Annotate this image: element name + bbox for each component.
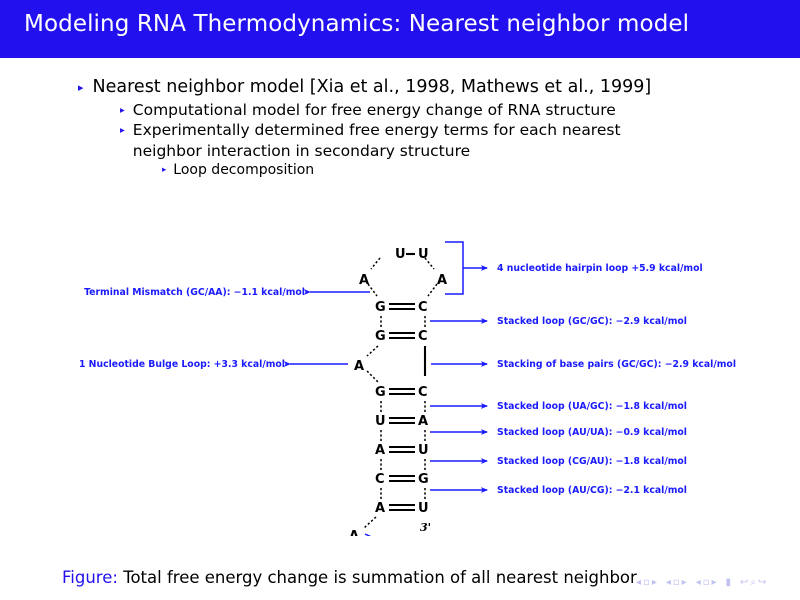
stem-pair-2: G C (375, 329, 428, 344)
nucleotide-tail-a1: A (349, 529, 359, 536)
slide-root: Modeling RNA Thermodynamics: Nearest nei… (0, 0, 800, 600)
page-title: Modeling RNA Thermodynamics: Nearest nei… (24, 11, 689, 37)
stem-pair-6: C G (375, 472, 429, 487)
stem-pair-5: A U (375, 443, 429, 458)
nucleotide-pair3-right: C (418, 385, 428, 400)
bullet-text-level1: Nearest neighbor model [Xia et al., 1998… (93, 76, 652, 99)
nucleotide-pair7-right: U (418, 501, 429, 516)
dangling-tail: A A 5' (297, 517, 376, 536)
nav-subsection-marker-icon[interactable]: ▫ (673, 578, 680, 588)
bullet-item-level3-loop: ▸ Loop decomposition (162, 161, 778, 179)
annotation-stacked-cg-au: Stacked loop (CG/AU): −1.8 kcal/mol (497, 456, 687, 467)
bullet-item-level1: ▸ Nearest neighbor model [Xia et al., 19… (78, 76, 778, 99)
bullet-text-level2-b: Experimentally determined free energy te… (133, 120, 678, 160)
annotation-terminal-mismatch: Terminal Mismatch (GC/AA): −1.1 kcal/mol (84, 287, 305, 298)
stem-pair-7: A U (375, 501, 429, 516)
nucleotide-pair5-left: A (375, 443, 385, 458)
nucleotide-pair6-left: C (375, 472, 385, 487)
beamer-navigation-bar[interactable]: ◂ ▫ ▸ ◂ ▫ ▸ ◂ ▫ ▸ ▮ ↩ ⌕ ↪ (636, 578, 766, 588)
hairpin-loop-backbone (368, 258, 437, 296)
figure-caption-label: Figure: (62, 568, 118, 587)
bullet-triangle-icon: ▸ (120, 106, 125, 116)
nucleotide-loop-a-left: A (359, 273, 369, 288)
bullet-item-level2-experimental: ▸ Experimentally determined free energy … (120, 120, 778, 160)
bullet-text-level2-a: Computational model for free energy chan… (133, 100, 616, 120)
nucleotide-pair1-right: C (418, 300, 428, 315)
nav-forward-icon[interactable]: ↪ (758, 578, 766, 588)
nucleotide-bulge-a: A (354, 359, 364, 374)
nucleotide-pair2-right: C (418, 329, 428, 344)
nav-search-icon[interactable]: ⌕ (750, 578, 756, 588)
stem-pair-3: G C (375, 385, 428, 400)
annotation-stacked-au-ua: Stacked loop (AU/UA): −0.9 kcal/mol (497, 427, 687, 438)
nucleotide-loop-a-right: A (437, 273, 447, 288)
annotation-stacked-gc-gc: Stacked loop (GC/GC): −2.9 kcal/mol (497, 316, 687, 327)
nucleotide-pair3-left: G (375, 385, 386, 400)
leader-dangling-nucleotide (365, 534, 452, 536)
bulge-loop-region: A (354, 346, 425, 382)
nav-prev-section-icon[interactable]: ◂ (696, 578, 701, 588)
nav-group-slide[interactable]: ◂ ▫ ▸ (636, 578, 657, 588)
nucleotide-pair4-right: A (418, 414, 428, 429)
nav-next-slide-icon[interactable]: ▸ (652, 578, 657, 588)
figure-caption-text: Total free energy change is summation of… (123, 568, 637, 587)
nav-next-section-icon[interactable]: ▸ (712, 578, 717, 588)
bullet-text-level3: Loop decomposition (173, 161, 314, 179)
three-prime-label: 3' (420, 521, 431, 534)
annotation-stacked-ua-gc: Stacked loop (UA/GC): −1.8 kcal/mol (497, 401, 687, 412)
nav-group-subsection[interactable]: ◂ ▫ ▸ (666, 578, 687, 588)
nav-slide-marker-icon[interactable]: ▫ (643, 578, 650, 588)
bullet-triangle-icon: ▸ (120, 126, 125, 136)
nav-prev-slide-icon[interactable]: ◂ (636, 578, 641, 588)
annotation-stacked-au-cg: Stacked loop (AU/CG): −2.1 kcal/mol (497, 485, 687, 496)
nav-section-marker-icon[interactable]: ▫ (703, 578, 710, 588)
nav-document-icon[interactable]: ▮ (726, 578, 732, 588)
nav-next-subsection-icon[interactable]: ▸ (682, 578, 687, 588)
nucleotide-pair7-left: A (375, 501, 385, 516)
stem-pair-1: G C (375, 300, 428, 315)
nucleotide-pair4-left: U (375, 414, 386, 429)
annotation-bulge-loop: 1 Nucleotide Bulge Loop: +3.3 kcal/mol (79, 359, 285, 370)
nucleotide-loop-u2: U (418, 247, 429, 262)
nav-group-section[interactable]: ◂ ▫ ▸ (696, 578, 717, 588)
annotation-hairpin-loop: 4 nucleotide hairpin loop +5.9 kcal/mol (497, 263, 703, 274)
bullet-triangle-icon: ▸ (78, 82, 84, 93)
annotation-stacking-base-pairs: Stacking of base pairs (GC/GC): −2.9 kca… (497, 359, 736, 370)
nucleotide-loop-u1: U (395, 247, 406, 262)
nav-prev-subsection-icon[interactable]: ◂ (666, 578, 671, 588)
hairpin-loop-nucleotides: U U A A (359, 247, 447, 288)
bullet-item-level2-computational: ▸ Computational model for free energy ch… (120, 100, 778, 120)
nucleotide-pair6-right: G (418, 472, 429, 487)
nav-group-tools[interactable]: ↩ ⌕ ↪ (740, 578, 766, 588)
bullet-list: ▸ Nearest neighbor model [Xia et al., 19… (78, 76, 778, 179)
bullet-triangle-icon: ▸ (162, 166, 166, 175)
nucleotide-pair1-left: G (375, 300, 386, 315)
slide-title-bar: Modeling RNA Thermodynamics: Nearest nei… (0, 0, 800, 58)
stem-pair-4: U A (375, 414, 428, 429)
nav-back-icon[interactable]: ↩ (740, 578, 748, 588)
nucleotide-pair5-right: U (418, 443, 429, 458)
title-divider (0, 58, 800, 61)
nucleotide-pair2-left: G (375, 329, 386, 344)
rna-structure-figure: U U A A G C G C (0, 236, 800, 536)
leader-hairpin-loop (445, 242, 487, 294)
nav-group-document[interactable]: ▮ (726, 578, 732, 588)
